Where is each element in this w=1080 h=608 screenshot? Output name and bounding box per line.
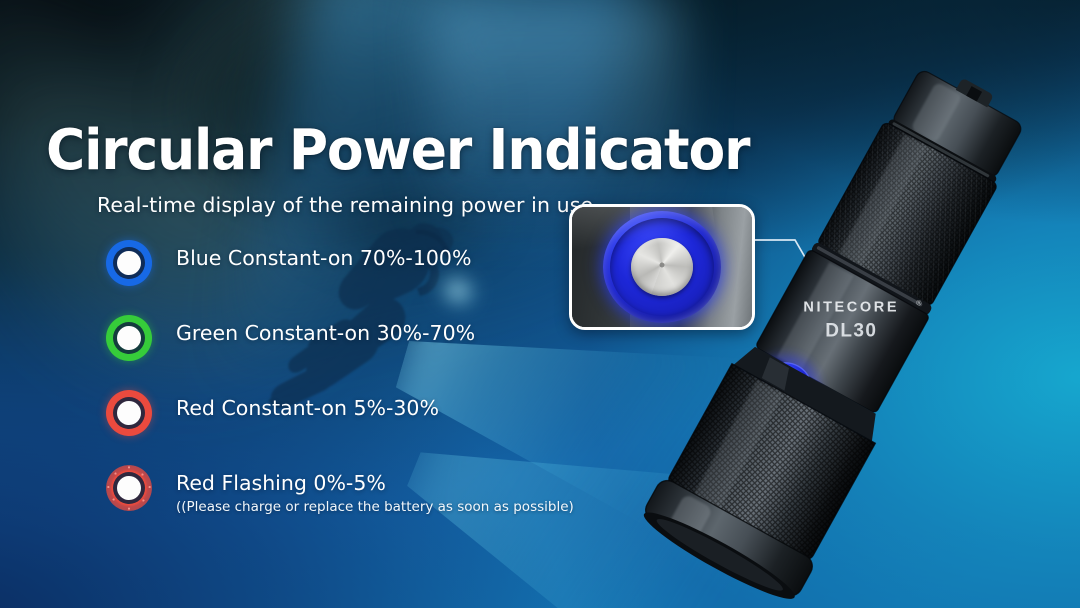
flashlight-product-image: NITECORE ® DL30 bbox=[620, 40, 1080, 608]
red-indicator-ring-icon bbox=[106, 390, 152, 436]
legend-label: Red Flashing 0%-5% bbox=[176, 471, 574, 495]
legend-item-red-flashing: Red Flashing 0%-5% ((Please charge or re… bbox=[106, 465, 574, 515]
legend-item-red-constant-on: Red Constant-on 5%-30% bbox=[106, 390, 439, 436]
model-text: DL30 bbox=[825, 321, 877, 342]
legend-label: Red Constant-on 5%-30% bbox=[176, 396, 439, 420]
legend-label: Green Constant-on 30%-70% bbox=[176, 321, 475, 345]
page-subtitle: Real-time display of the remaining power… bbox=[97, 193, 593, 217]
svg-text:®: ® bbox=[916, 300, 922, 308]
red-flashing-indicator-ring-icon bbox=[106, 465, 152, 511]
brand-text: NITECORE bbox=[803, 300, 899, 316]
legend-item-blue-constant-on: Blue Constant-on 70%-100% bbox=[106, 240, 471, 286]
blue-indicator-ring-icon bbox=[106, 240, 152, 286]
legend-note: ((Please charge or replace the battery a… bbox=[176, 499, 574, 515]
product-feature-banner: Circular Power Indicator Real-time displ… bbox=[0, 0, 1080, 608]
green-indicator-ring-icon bbox=[106, 315, 152, 361]
legend-item-green-constant-on: Green Constant-on 30%-70% bbox=[106, 315, 475, 361]
legend-label: Blue Constant-on 70%-100% bbox=[176, 246, 471, 270]
